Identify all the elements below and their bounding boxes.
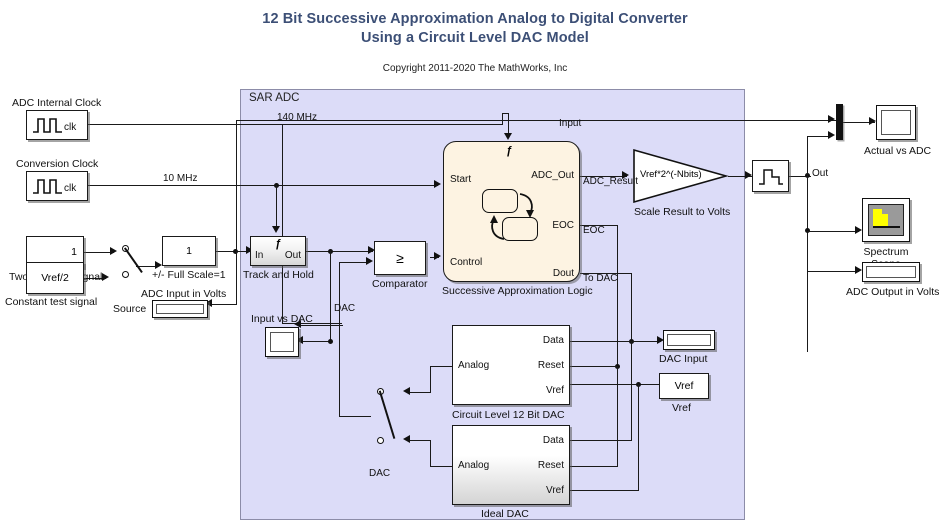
comparator-symbol: ≥ — [396, 250, 404, 266]
wire-out-down — [807, 176, 808, 352]
constant-test-signal-label: Constant test signal — [5, 296, 97, 308]
wire-clock-to-th-trigger — [276, 185, 277, 229]
arrow-comparator-in-2 — [366, 257, 373, 265]
wire-ideal-dac-to-switch — [410, 440, 431, 441]
arrow-switch-in-bottom — [102, 273, 109, 281]
wire-dout-down — [631, 273, 632, 341]
pulse-generator-icon: clk — [30, 175, 84, 197]
adc-input-volts-display[interactable] — [152, 300, 208, 318]
ideal-dac-label: Ideal DAC — [481, 508, 529, 520]
wire-dout-to-data-bottom — [570, 440, 632, 441]
trigger-icon: ƒ — [275, 238, 281, 250]
pulse-generator-icon: clk — [30, 114, 84, 136]
wire-ideal-dac-analog-out — [430, 466, 452, 467]
arrow-chart-trigger — [504, 133, 512, 140]
arrow-control-port — [434, 252, 441, 260]
full-scale-value: 1 — [186, 245, 192, 257]
input-vs-dac-label: Input vs DAC — [251, 313, 313, 325]
input-switch-node-bottom[interactable] — [122, 271, 129, 278]
arrow-start-port — [434, 180, 441, 188]
chart-port-dout: Dout — [553, 268, 574, 279]
wire-adc-clock-main — [88, 124, 503, 125]
wire-ideal-dac-riser — [430, 440, 431, 467]
staircase-icon — [756, 164, 786, 188]
vref-label: Vref — [672, 402, 691, 414]
arrow-th-trigger — [272, 226, 280, 233]
actual-vs-adc-scope[interactable] — [876, 105, 916, 140]
wire-input-to-mux — [236, 120, 836, 121]
wire-circuit-dac-riser — [430, 366, 431, 393]
wire-dout-to-data-top — [570, 341, 632, 342]
conversion-clock-label: Conversion Clock — [16, 158, 98, 170]
circuit-dac-analog-port: Analog — [458, 360, 489, 371]
junction-scope-feed — [328, 339, 333, 344]
comparator-block[interactable]: ≥ — [374, 241, 426, 275]
scale-result-label: Scale Result to Volts — [634, 206, 730, 218]
actual-vs-adc-label: Actual vs ADC — [864, 145, 931, 157]
dac-input-display[interactable] — [663, 330, 715, 350]
clock-140mhz-label: 140 MHz — [277, 112, 317, 123]
successive-approximation-logic-block[interactable]: ƒ Start Control ADC_Out EOC Dout — [443, 141, 580, 282]
chart-port-eoc: EOC — [552, 220, 574, 231]
input-signal-label: Input — [559, 118, 581, 129]
scope-screen — [270, 332, 294, 352]
circuit-dac-reset-port: Reset — [538, 360, 564, 371]
arrow-fullscale-in — [155, 261, 162, 269]
track-and-hold-block[interactable]: In Out ƒ — [250, 236, 306, 266]
zero-order-hold-block[interactable] — [752, 160, 789, 192]
ideal-dac-reset-port: Reset — [538, 460, 564, 471]
two-tone-value: 1 — [71, 246, 77, 258]
chart-port-control: Control — [450, 257, 482, 268]
ideal-dac-analog-port: Analog — [458, 460, 489, 471]
wire-th-down-to-scope — [330, 251, 331, 342]
adc-internal-clock-label: ADC Internal Clock — [12, 97, 101, 109]
clock-10mhz-label: 10 MHz — [163, 173, 197, 184]
full-scale-gain-block[interactable]: 1 — [162, 236, 216, 266]
wire-adc-clock-branch-down — [282, 124, 283, 324]
display-screen — [667, 334, 711, 346]
spectrum-label-line1: Spectrum — [848, 246, 924, 258]
dac-input-label: DAC Input — [659, 353, 707, 365]
to-dac-label: To DAC — [583, 273, 617, 284]
input-vs-dac-scope[interactable] — [265, 327, 299, 357]
wire-dac-switch-feed — [339, 416, 371, 417]
wire-dout-down2 — [631, 341, 632, 441]
wire-trigger-riser — [502, 113, 503, 125]
track-and-hold-label: Track and Hold — [243, 269, 314, 281]
wire-th-out — [305, 251, 373, 252]
chart-port-start: Start — [450, 174, 471, 185]
conversion-clock-block[interactable]: clk — [26, 171, 88, 201]
simulink-diagram-canvas: 12 Bit Successive Approximation Analog t… — [0, 0, 950, 532]
wire-trigger-drop — [508, 113, 509, 135]
full-scale-label: +/- Full Scale=1 — [152, 269, 226, 281]
track-hold-in-port: In — [255, 250, 263, 261]
arrow-zoh-in — [745, 171, 752, 179]
wire-to-adc-input-display — [212, 304, 237, 305]
spectrum-trace-icon — [869, 205, 905, 237]
wire-vref-down — [638, 384, 639, 491]
title-line-2: Using a Circuit Level DAC Model — [0, 29, 950, 48]
arrow-switch-dac-top — [403, 387, 410, 395]
wire-to-adc-output-volts — [807, 271, 859, 272]
dac-switch-label: DAC — [369, 468, 390, 479]
wire-out-up-to-mux — [807, 136, 808, 176]
circuit-level-dac-block[interactable]: Analog Data Reset Vref — [452, 325, 570, 405]
circuit-dac-data-port: Data — [543, 335, 564, 346]
mux-block[interactable] — [836, 104, 843, 140]
wire-conversion-clock-to-start — [88, 185, 438, 186]
wire-vref-to-circuit-dac — [570, 384, 660, 385]
copyright-notice: Copyright 2011-2020 The MathWorks, Inc — [0, 63, 950, 74]
circuit-dac-vref-port: Vref — [546, 385, 564, 396]
gain-expression: Vref*2^(-Nbits) — [640, 169, 702, 180]
adc-output-volts-display[interactable] — [862, 262, 920, 282]
arrow-spectrum-in — [855, 226, 862, 234]
vref-value: Vref — [675, 380, 694, 392]
vref-constant-block[interactable]: Vref — [659, 373, 709, 399]
wire-vref-to-ideal-dac — [570, 490, 639, 491]
wire-to-spectrum — [807, 231, 859, 232]
scale-result-gain-block[interactable]: Vref*2^(-Nbits) — [632, 148, 728, 204]
arrow-switch-in-top — [110, 247, 117, 255]
chart-trigger-icon: ƒ — [506, 145, 512, 157]
constant-value: Vref/2 — [41, 272, 69, 284]
wire-out-to-mux — [807, 136, 829, 137]
constant-test-signal-block[interactable]: Vref/2 — [26, 262, 84, 294]
comparator-label: Comparator — [372, 278, 427, 290]
adc-result-label: ADC_Result — [583, 176, 638, 187]
adc-input-volts-label: ADC Input in Volts — [141, 288, 226, 300]
wire-dac-feedback-vertical — [339, 262, 340, 417]
arrow-actualvsadc-in — [869, 117, 876, 125]
wire-circuit-dac-analog-out — [430, 366, 452, 367]
arrow-mux-in-1 — [828, 115, 835, 123]
ideal-dac-vref-port: Vref — [546, 485, 564, 496]
page-title: 12 Bit Successive Approximation Analog t… — [0, 10, 950, 48]
chart-port-adc-out: ADC_Out — [531, 170, 574, 181]
wire-eoc-to-reset-bottom — [570, 466, 618, 467]
state-transition-arrows-icon — [478, 184, 548, 246]
spectrum-scope-block[interactable] — [862, 198, 910, 242]
dac-switch-node-bottom[interactable] — [377, 437, 384, 444]
display-screen — [156, 304, 204, 314]
adc-internal-clock-block[interactable]: clk — [26, 110, 88, 140]
ideal-dac-block[interactable]: Analog Data Reset Vref — [452, 425, 570, 505]
wire-circuit-dac-to-switch — [410, 392, 431, 393]
title-line-1: 12 Bit Successive Approximation Analog t… — [0, 10, 950, 29]
eoc-signal-label: EOC — [583, 225, 605, 236]
wire-dac-to-comparator — [339, 262, 367, 263]
arrow-switch-dac-bottom — [403, 435, 410, 443]
arrow-mux-in-2 — [828, 131, 835, 139]
dac-top-label: DAC — [334, 303, 355, 314]
spectrum-screen — [868, 204, 904, 236]
source-label: Source — [113, 303, 146, 315]
wire-fullscale-down — [236, 251, 237, 305]
wire-eoc-to-reset-top — [570, 366, 618, 367]
display-screen — [866, 266, 916, 278]
input-switch-lever[interactable] — [124, 247, 142, 272]
wire-eoc-down2 — [617, 366, 618, 466]
ideal-dac-data-port: Data — [543, 435, 564, 446]
adc-output-volts-label: ADC Output in Volts — [846, 286, 939, 298]
wire-eoc-down — [617, 225, 618, 366]
svg-text:clk: clk — [64, 183, 77, 194]
circuit-level-dac-label: Circuit Level 12 Bit DAC — [452, 409, 565, 421]
svg-text:clk: clk — [64, 122, 77, 133]
sar-adc-subsystem-title: SAR ADC — [249, 92, 300, 104]
out-signal-label: Out — [812, 168, 828, 179]
wire-dacline-to-scope-top — [298, 325, 343, 326]
wire-th-to-scope — [302, 341, 331, 342]
scope-screen — [881, 110, 911, 135]
successive-approximation-logic-label: Successive Approximation Logic — [442, 285, 593, 297]
track-hold-out-port: Out — [285, 250, 301, 261]
